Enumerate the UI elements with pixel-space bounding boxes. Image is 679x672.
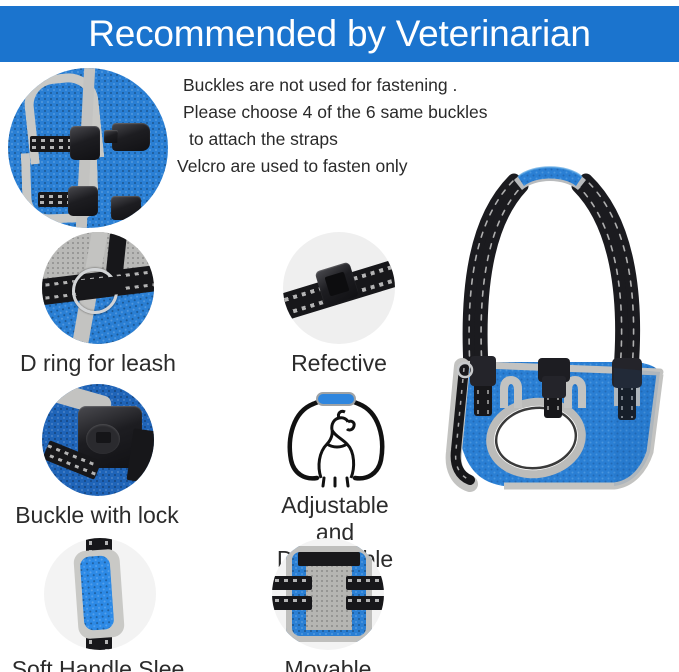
feature-caption-soft-handle: Soft Handle Slee (0, 656, 208, 672)
feature-buckle-lock: Buckle with lock (42, 384, 202, 529)
feature-caption-d-ring: D ring for leash (0, 350, 198, 377)
header-banner: Recommended by Veterinarian (0, 6, 679, 62)
feature-reflective: Refective (283, 232, 429, 377)
dog-harness-sketch-icon (277, 386, 395, 490)
feature-caption-reflective: Refective (249, 350, 429, 377)
product-infographic-image: Recommended by Veterinarian Buckles are … (0, 0, 679, 672)
feature-caption-buckle-lock: Buckle with lock (0, 502, 202, 529)
feature-caption-adjustable-line1: Adjustable (281, 492, 388, 518)
blue-mesh-with-buckles-photo (8, 68, 168, 228)
padded-handle-sleeve-photo (44, 538, 156, 650)
dog-in-harness-line-drawing (277, 386, 395, 490)
feature-movable: Movable (272, 538, 418, 672)
feature-soft-handle: Soft Handle Slee (44, 538, 208, 672)
d-ring-closeup-photo (42, 232, 154, 344)
locking-buckle-closeup-photo (42, 384, 154, 496)
feature-d-ring: D ring for leash (42, 232, 198, 377)
harness-illustration (418, 120, 679, 520)
feature-buckles (8, 68, 168, 228)
velcro-pad-closeup-photo (272, 538, 384, 650)
blue-dog-lift-harness-product-photo (418, 120, 679, 520)
feature-caption-movable: Movable (238, 656, 418, 672)
reflective-strap-closeup-photo (283, 232, 395, 344)
instruction-line-1: Buckles are not used for fastening . (183, 72, 513, 99)
banner-title: Recommended by Veterinarian (88, 14, 591, 54)
